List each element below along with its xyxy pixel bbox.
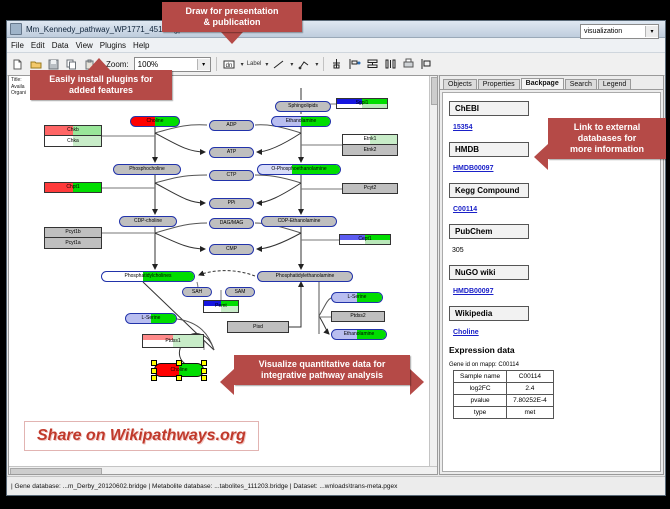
node-label: Phosphocholine: [129, 167, 165, 172]
callout-line: more information: [554, 144, 660, 155]
share-text: Share on Wikipathways.org: [37, 427, 246, 444]
node-label: Phosphatidylethanolamine: [276, 274, 335, 279]
selection-handle[interactable]: [201, 360, 207, 366]
visualization-value: visualization: [584, 28, 622, 35]
db-link[interactable]: C00114: [453, 206, 477, 213]
node-label: ADP: [226, 123, 236, 128]
node-label: Sgpl1: [356, 101, 369, 106]
node-pcyt1b[interactable]: Pcyt1b: [44, 227, 102, 238]
node-label: Etnk2: [364, 148, 377, 153]
pathway-canvas[interactable]: Title: Availa Organi: [8, 75, 438, 475]
node-phosphatidylethanolamine[interactable]: Phosphatidylethanolamine: [257, 271, 353, 282]
callout-arrow-left: [534, 144, 548, 170]
distribute-icon[interactable]: [383, 57, 398, 72]
chevron-down-icon[interactable]: ▾: [645, 26, 658, 37]
node-label: Chpt1: [66, 185, 79, 190]
db-name-label: NuGO wiki: [449, 265, 529, 280]
table-cell-key: Sample name: [454, 371, 507, 383]
table-row: log2FC 2.4: [454, 383, 554, 395]
node-label: Etnk1: [364, 137, 377, 142]
tab-search[interactable]: Search: [565, 79, 597, 89]
node-cdp-choline[interactable]: CDP-choline: [119, 216, 177, 227]
node-label: CMP: [226, 247, 237, 252]
node-label: PPi: [228, 201, 236, 206]
node-label: Ptdss1: [165, 339, 180, 344]
node-ptdss2[interactable]: Ptdss2: [331, 311, 385, 322]
callout-draw: Draw for presentation & publication: [162, 2, 302, 32]
callout-visualize: Visualize quantitative data for integrat…: [234, 355, 410, 385]
menu-item-edit[interactable]: Edit: [31, 41, 45, 50]
line-tool-icon[interactable]: [271, 57, 286, 72]
table-cell-key: pvalue: [454, 395, 507, 407]
app-icon: [10, 23, 22, 35]
share-banner: Share on Wikipathways.org: [24, 421, 259, 451]
db-link[interactable]: Choline: [453, 329, 479, 336]
node-label: Pcyt2: [364, 186, 377, 191]
db-link[interactable]: HMDB00097: [453, 288, 493, 295]
svg-text:dn: dn: [226, 63, 233, 69]
selection-handle[interactable]: [201, 375, 207, 381]
node-label: Choline: [147, 119, 164, 124]
callout-line: integrative pathway analysis: [240, 370, 404, 381]
chevron-down-icon[interactable]: ▾: [241, 61, 244, 68]
db-name-label: ChEBI: [449, 101, 529, 116]
node-etnk1[interactable]: Etnk1: [342, 134, 398, 145]
selection-handle[interactable]: [151, 368, 157, 374]
align-center-icon[interactable]: [329, 57, 344, 72]
node-phosphocholine[interactable]: Phosphocholine: [113, 164, 181, 175]
chevron-down-icon[interactable]: ▾: [315, 61, 318, 68]
node-dag-mag[interactable]: DAG/MAG: [209, 218, 254, 229]
selection-handle[interactable]: [176, 360, 182, 366]
screenshot-root: Mm_Kennedy_pathway_WP1771_45176.gpml Fil…: [0, 0, 670, 509]
menu-item-help[interactable]: Help: [133, 41, 149, 50]
callout-arrow-down: [221, 32, 243, 44]
node-ppi[interactable]: PPi: [209, 198, 254, 209]
node-label: SAH: [192, 290, 202, 295]
node-ptdss1[interactable]: Ptdss1: [142, 334, 204, 348]
node-chka[interactable]: Chka: [44, 136, 102, 147]
node-label: CDP-choline: [134, 219, 162, 224]
node-label: L-Serine: [348, 295, 367, 300]
menu-item-data[interactable]: Data: [52, 41, 69, 50]
backpage-entry-nugo: NuGO wiki HMDB00097: [449, 262, 660, 298]
scrollbar-thumb[interactable]: [431, 77, 438, 105]
db-name-label: Wikipedia: [449, 306, 529, 321]
node-sah[interactable]: SAH: [182, 287, 212, 297]
node-chpt1[interactable]: Chpt1: [44, 182, 102, 193]
node-ctp[interactable]: CTP: [209, 170, 254, 181]
node-sam[interactable]: SAM: [225, 287, 255, 297]
node-choline-top[interactable]: Choline: [130, 116, 180, 127]
datanode-tool-icon[interactable]: dn: [222, 57, 237, 72]
node-label: L-Serine: [142, 316, 161, 321]
status-bar: | Gene database: ...m_Derby_20120602.bri…: [7, 476, 665, 495]
chevron-down-icon[interactable]: ▾: [197, 59, 210, 70]
node-etnk2[interactable]: Etnk2: [342, 145, 398, 156]
menu-item-view[interactable]: View: [76, 41, 93, 50]
node-label: Ethanolamine: [344, 332, 375, 337]
node-label: Pcyt1a: [65, 241, 80, 246]
menu-bar: File Edit Data View Plugins Help: [7, 38, 665, 53]
backpage-entry-wikipedia: Wikipedia Choline: [449, 303, 660, 339]
node-l-serine-right[interactable]: L-Serine: [331, 292, 383, 303]
node-label: Chka: [67, 139, 79, 144]
tab-objects[interactable]: Objects: [443, 79, 477, 89]
status-text: | Gene database: ...m_Derby_20120602.bri…: [11, 483, 397, 490]
node-label: CDP-Ethanolamine: [278, 219, 321, 224]
node-adp[interactable]: ADP: [209, 120, 254, 131]
scrollbar-thumb[interactable]: [10, 468, 102, 475]
table-row: Sample name C00114: [454, 371, 554, 383]
db-name-label: Kegg Compound: [449, 183, 529, 198]
node-label: Pemt: [215, 304, 227, 309]
node-sgpl1[interactable]: Sgpl1: [336, 98, 388, 109]
tab-properties[interactable]: Properties: [478, 79, 520, 89]
callout-line: & publication: [168, 17, 296, 28]
node-atp[interactable]: ATP: [209, 147, 254, 158]
db-name-label: PubChem: [449, 224, 529, 239]
table-row: type met: [454, 407, 554, 419]
node-o-phosphoethanolamine[interactable]: O-Phosphoethanolamine: [257, 164, 341, 175]
interaction-tool-icon[interactable]: [296, 57, 311, 72]
node-label: CTP: [227, 173, 237, 178]
node-phosphatidylcholines[interactable]: Phosphatidylcholines: [101, 271, 195, 282]
callout-arrow-left: [220, 369, 234, 395]
expression-data-table: Sample name C00114 log2FC 2.4 pvalue 7.8…: [453, 370, 554, 419]
node-ethanolamine[interactable]: Ethanolamine: [271, 116, 331, 127]
node-pemt[interactable]: Pemt: [203, 300, 239, 313]
db-value: 305: [452, 247, 464, 254]
expression-data-heading: Expression data: [449, 345, 660, 355]
toolbar-separator: [216, 57, 217, 71]
node-label: Choline: [171, 368, 188, 373]
selection-handle[interactable]: [151, 360, 157, 366]
callout-arrow-up: [88, 58, 110, 70]
callout-line: databases for: [554, 133, 660, 144]
label-tool-label: Label: [247, 61, 262, 67]
chevron-down-icon[interactable]: ▾: [265, 61, 268, 68]
zoom-value: 100%: [138, 60, 197, 69]
node-cmp[interactable]: CMP: [209, 244, 254, 255]
node-label: O-Phosphoethanolamine: [271, 167, 326, 172]
table-cell-value: C00114: [507, 371, 554, 383]
callout-arrow-right: [410, 369, 424, 395]
node-cdp-ethanolamine[interactable]: CDP-Ethanolamine: [261, 216, 337, 227]
callout-line: added features: [36, 85, 166, 96]
table-row: pvalue 7.80252E-4: [454, 395, 554, 407]
node-label: Ptdss2: [350, 314, 365, 319]
node-label: ATP: [227, 150, 236, 155]
selection-handle[interactable]: [151, 375, 157, 381]
new-file-icon[interactable]: [10, 57, 25, 72]
align-left-icon[interactable]: [347, 57, 362, 72]
callout-plugins: Easily install plugins for added feature…: [30, 70, 172, 100]
callout-line: Easily install plugins for: [36, 74, 166, 85]
table-cell-value: 7.80252E-4: [507, 395, 554, 407]
node-chkb[interactable]: Chkb: [44, 125, 102, 136]
node-label: Pcyt1b: [65, 230, 80, 235]
db-name-label: HMDB: [449, 142, 529, 157]
gene-id-label: Gene id on mapp: C00114: [449, 362, 660, 368]
node-label: Cept1: [358, 237, 371, 242]
canvas-vertical-scrollbar[interactable]: [429, 76, 437, 474]
node-pcyt1a[interactable]: Pcyt1a: [44, 238, 102, 249]
node-label: Chkb: [67, 128, 79, 133]
node-label: SAM: [235, 290, 246, 295]
table-cell-value: 2.4: [507, 383, 554, 395]
stack-vertical-icon[interactable]: [365, 57, 380, 72]
node-pcyt2[interactable]: Pcyt2: [342, 183, 398, 194]
node-l-serine-left[interactable]: L-Serine: [125, 313, 177, 324]
node-ethanolamine-bottom[interactable]: Ethanolamine: [331, 329, 387, 340]
node-label: Sphingolipids: [288, 104, 318, 109]
callout-line: Draw for presentation: [168, 6, 296, 17]
node-label: DAG/MAG: [220, 221, 244, 226]
callout-line: Visualize quantitative data for: [240, 359, 404, 370]
node-label: Ethanolamine: [286, 119, 317, 124]
table-cell-key: log2FC: [454, 383, 507, 395]
menu-item-file[interactable]: File: [11, 41, 24, 50]
node-cept1[interactable]: Cept1: [339, 234, 391, 245]
tab-backpage[interactable]: Backpage: [521, 78, 564, 89]
canvas-horizontal-scrollbar[interactable]: [9, 466, 437, 474]
selection-handle[interactable]: [201, 368, 207, 374]
selection-handle[interactable]: [176, 375, 182, 381]
backpage-entry-pubchem: PubChem 305: [449, 221, 660, 257]
callout-link-databases: Link to external databases for more info…: [548, 118, 666, 159]
common-width-icon[interactable]: [419, 57, 434, 72]
menu-item-plugins[interactable]: Plugins: [100, 41, 126, 50]
table-cell-value: met: [507, 407, 554, 419]
side-panel-tabs: Objects Properties Backpage Search Legen…: [440, 76, 663, 90]
visualization-select[interactable]: visualization ▾: [580, 24, 659, 39]
toolbar-separator: [323, 57, 324, 71]
backpage-entry-kegg: Kegg Compound C00114: [449, 180, 660, 216]
print-icon[interactable]: [401, 57, 416, 72]
node-sphingolipids[interactable]: Sphingolipids: [275, 101, 331, 112]
table-cell-key: type: [454, 407, 507, 419]
db-link[interactable]: 15354: [453, 124, 472, 131]
callout-line: Link to external: [554, 122, 660, 133]
chevron-down-icon[interactable]: ▾: [290, 61, 293, 68]
db-link[interactable]: HMDB00097: [453, 165, 493, 172]
title-bar: Mm_Kennedy_pathway_WP1771_45176.gpml: [7, 21, 665, 38]
node-pisd[interactable]: Pisd: [227, 321, 289, 333]
node-label: Pisd: [253, 325, 263, 330]
node-label: Phosphatidylcholines: [125, 274, 172, 279]
tab-legend[interactable]: Legend: [598, 79, 631, 89]
